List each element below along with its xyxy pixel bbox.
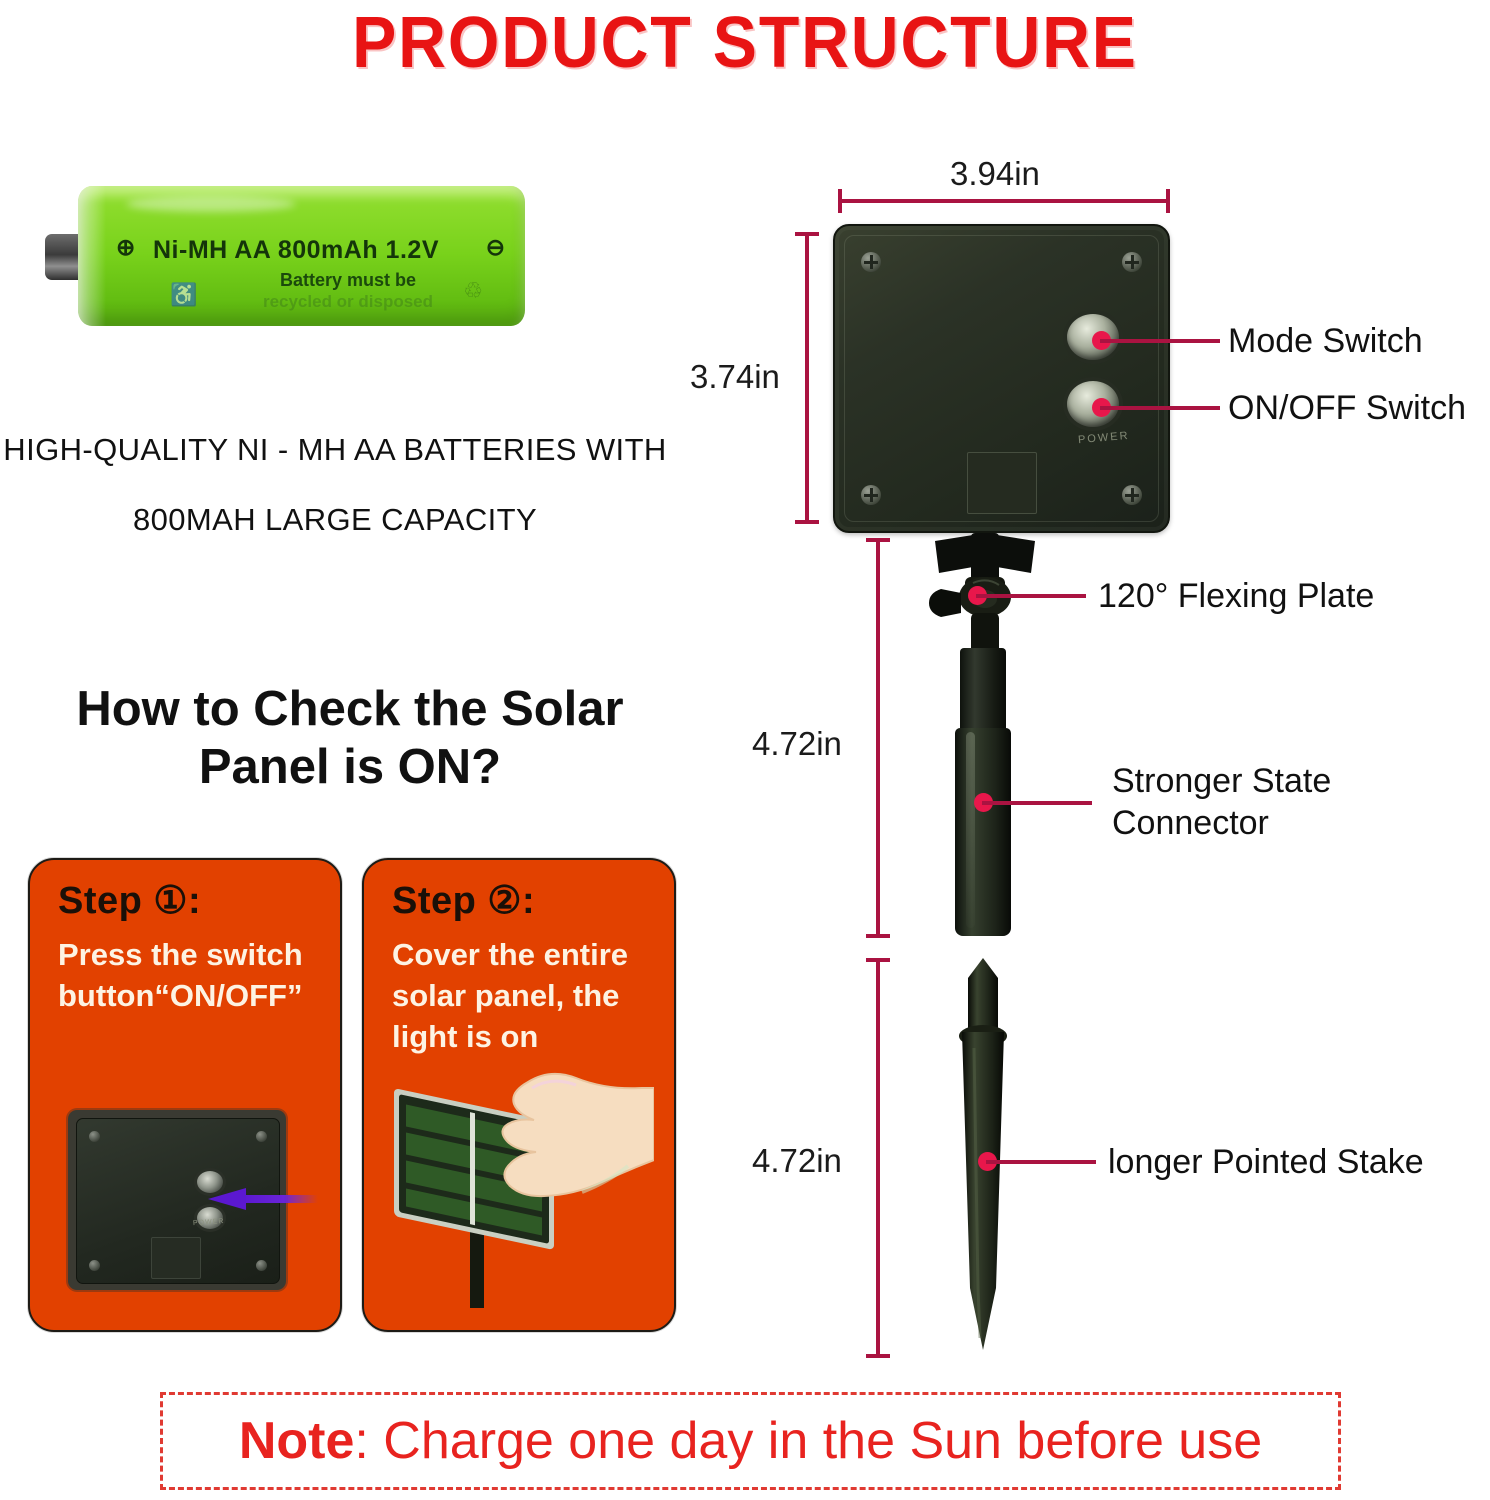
note-box: Note: Charge one day in the Sun before u…	[160, 1392, 1341, 1490]
callout-line-onoff-switch	[1100, 406, 1220, 410]
howto-heading-line1: How to Check the Solar	[0, 680, 700, 738]
step-1-image: POWER	[68, 1110, 286, 1290]
step-2-body: Cover the entire solar panel, the light …	[392, 934, 660, 1057]
dimension-tick-width-right	[1166, 189, 1170, 213]
callout-line-connector	[982, 801, 1092, 805]
dimension-line-connector	[876, 538, 880, 938]
battery-illustration: ⊕ ⊖ Ni-MH AA 800mAh 1.2V Battery must be…	[45, 186, 525, 326]
step-2-title: Step ②:	[392, 878, 535, 923]
battery-body: ⊕ ⊖ Ni-MH AA 800mAh 1.2V Battery must be…	[78, 186, 525, 326]
stronger-state-connector	[955, 728, 1011, 936]
battery-warning-line2: recycled or disposed	[188, 292, 508, 312]
dimension-tick-width-left	[838, 189, 842, 213]
panel-screw-top-left	[861, 252, 881, 272]
callout-label-onoff-switch: ON/OFF Switch	[1228, 387, 1466, 429]
dimension-tick-connector-top	[866, 538, 890, 542]
battery-spec-text: Ni-MH AA 800mAh 1.2V	[153, 236, 513, 265]
dimension-tick-height-top	[795, 232, 819, 236]
panel-cable-notch	[967, 452, 1037, 514]
pole-highlight	[966, 732, 975, 928]
dimension-tick-stake-top	[866, 958, 890, 962]
dimension-label-stake: 4.72in	[752, 1142, 842, 1180]
callout-label-stake: longer Pointed Stake	[1108, 1141, 1424, 1183]
callout-line-stake	[986, 1160, 1096, 1164]
dimension-tick-height-bottom	[795, 520, 819, 524]
battery-plus-icon: ⊕	[116, 234, 135, 261]
pole-upper-segment	[960, 648, 1006, 732]
callout-label-flexing-plate: 120° Flexing Plate	[1098, 575, 1374, 617]
note-text: Note: Charge one day in the Sun before u…	[163, 1411, 1338, 1471]
note-body: : Charge one day in the Sun before use	[354, 1412, 1262, 1470]
step-2-image	[382, 1070, 654, 1308]
step-1-power-label: POWER	[193, 1218, 225, 1227]
step-1-body: Press the switch button“ON/OFF”	[58, 934, 326, 1016]
battery-caption-line1: HIGH-QUALITY NI - MH AA BATTERIES WITH	[0, 432, 685, 468]
callout-label-connector: Stronger State Connector	[1112, 760, 1331, 844]
battery-caption-line2: 800MAH LARGE CAPACITY	[0, 502, 685, 538]
callout-line-mode-switch	[1100, 339, 1220, 343]
battery-warning-line1: Battery must be	[198, 270, 498, 291]
step-card-2: Step ②: Cover the entire solar panel, th…	[362, 858, 676, 1332]
panel-screw-top-right	[1122, 252, 1142, 272]
callout-label-mode-switch: Mode Switch	[1228, 320, 1423, 362]
step-1-title: Step ①:	[58, 878, 201, 923]
howto-heading: How to Check the Solar Panel is ON?	[0, 680, 700, 796]
note-prefix: Note	[239, 1412, 355, 1470]
step-card-1: Step ①: Press the switch button“ON/OFF” …	[28, 858, 342, 1332]
dimension-label-panel-width: 3.94in	[950, 155, 1040, 193]
callout-line-flexing-plate	[976, 594, 1086, 598]
howto-heading-line2: Panel is ON?	[0, 738, 700, 796]
page-title: PRODUCT STRUCTURE	[60, 2, 1431, 84]
pointing-arrow-icon	[208, 1188, 318, 1210]
dimension-label-panel-height: 3.74in	[690, 358, 780, 396]
solar-panel-back: POWER	[833, 224, 1170, 533]
step-1-notch	[151, 1237, 201, 1279]
crossed-bin-icon: ♲	[463, 278, 483, 304]
dimension-tick-connector-bottom	[866, 934, 890, 938]
dimension-tick-stake-bottom	[866, 1354, 890, 1358]
battery-highlight	[126, 196, 296, 212]
dimension-line-width	[838, 199, 1170, 203]
dimension-label-connector: 4.72in	[752, 725, 842, 763]
dimension-line-stake	[876, 958, 880, 1358]
panel-screw-bottom-left	[861, 485, 881, 505]
dimension-line-height	[805, 232, 809, 524]
callout-label-connector-line2: Connector	[1112, 802, 1331, 844]
no-trash-icon: ♿	[170, 282, 197, 308]
callout-label-connector-line1: Stronger State	[1112, 760, 1331, 802]
panel-screw-bottom-right	[1122, 485, 1142, 505]
